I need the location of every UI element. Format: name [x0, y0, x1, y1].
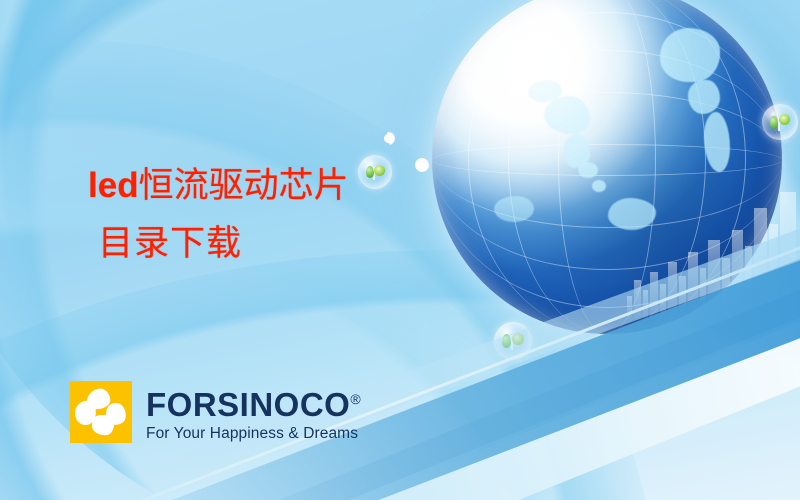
- headline-line-2: 目录下载: [98, 222, 349, 266]
- headline-line-1-cn: 恒流驱动芯片: [139, 166, 349, 205]
- brand-tagline: For Your Happiness & Dreams: [146, 424, 361, 443]
- registered-mark: ®: [350, 391, 361, 407]
- brand-word: FORSINOCO: [146, 386, 350, 423]
- headline-text: led恒流驱动芯片 目录下载: [88, 164, 349, 266]
- promo-banner: led恒流驱动芯片 目录下载 FORSINOCO® For Your Happi…: [0, 0, 800, 500]
- headline-line-1: led恒流驱动芯片: [88, 164, 349, 208]
- brand-name: FORSINOCO®: [146, 382, 361, 422]
- forsinoco-flower-mark: [70, 381, 132, 443]
- forsinoco-logo: FORSINOCO® For Your Happiness & Dreams: [70, 381, 361, 443]
- headline-line-1-en: led: [88, 166, 139, 205]
